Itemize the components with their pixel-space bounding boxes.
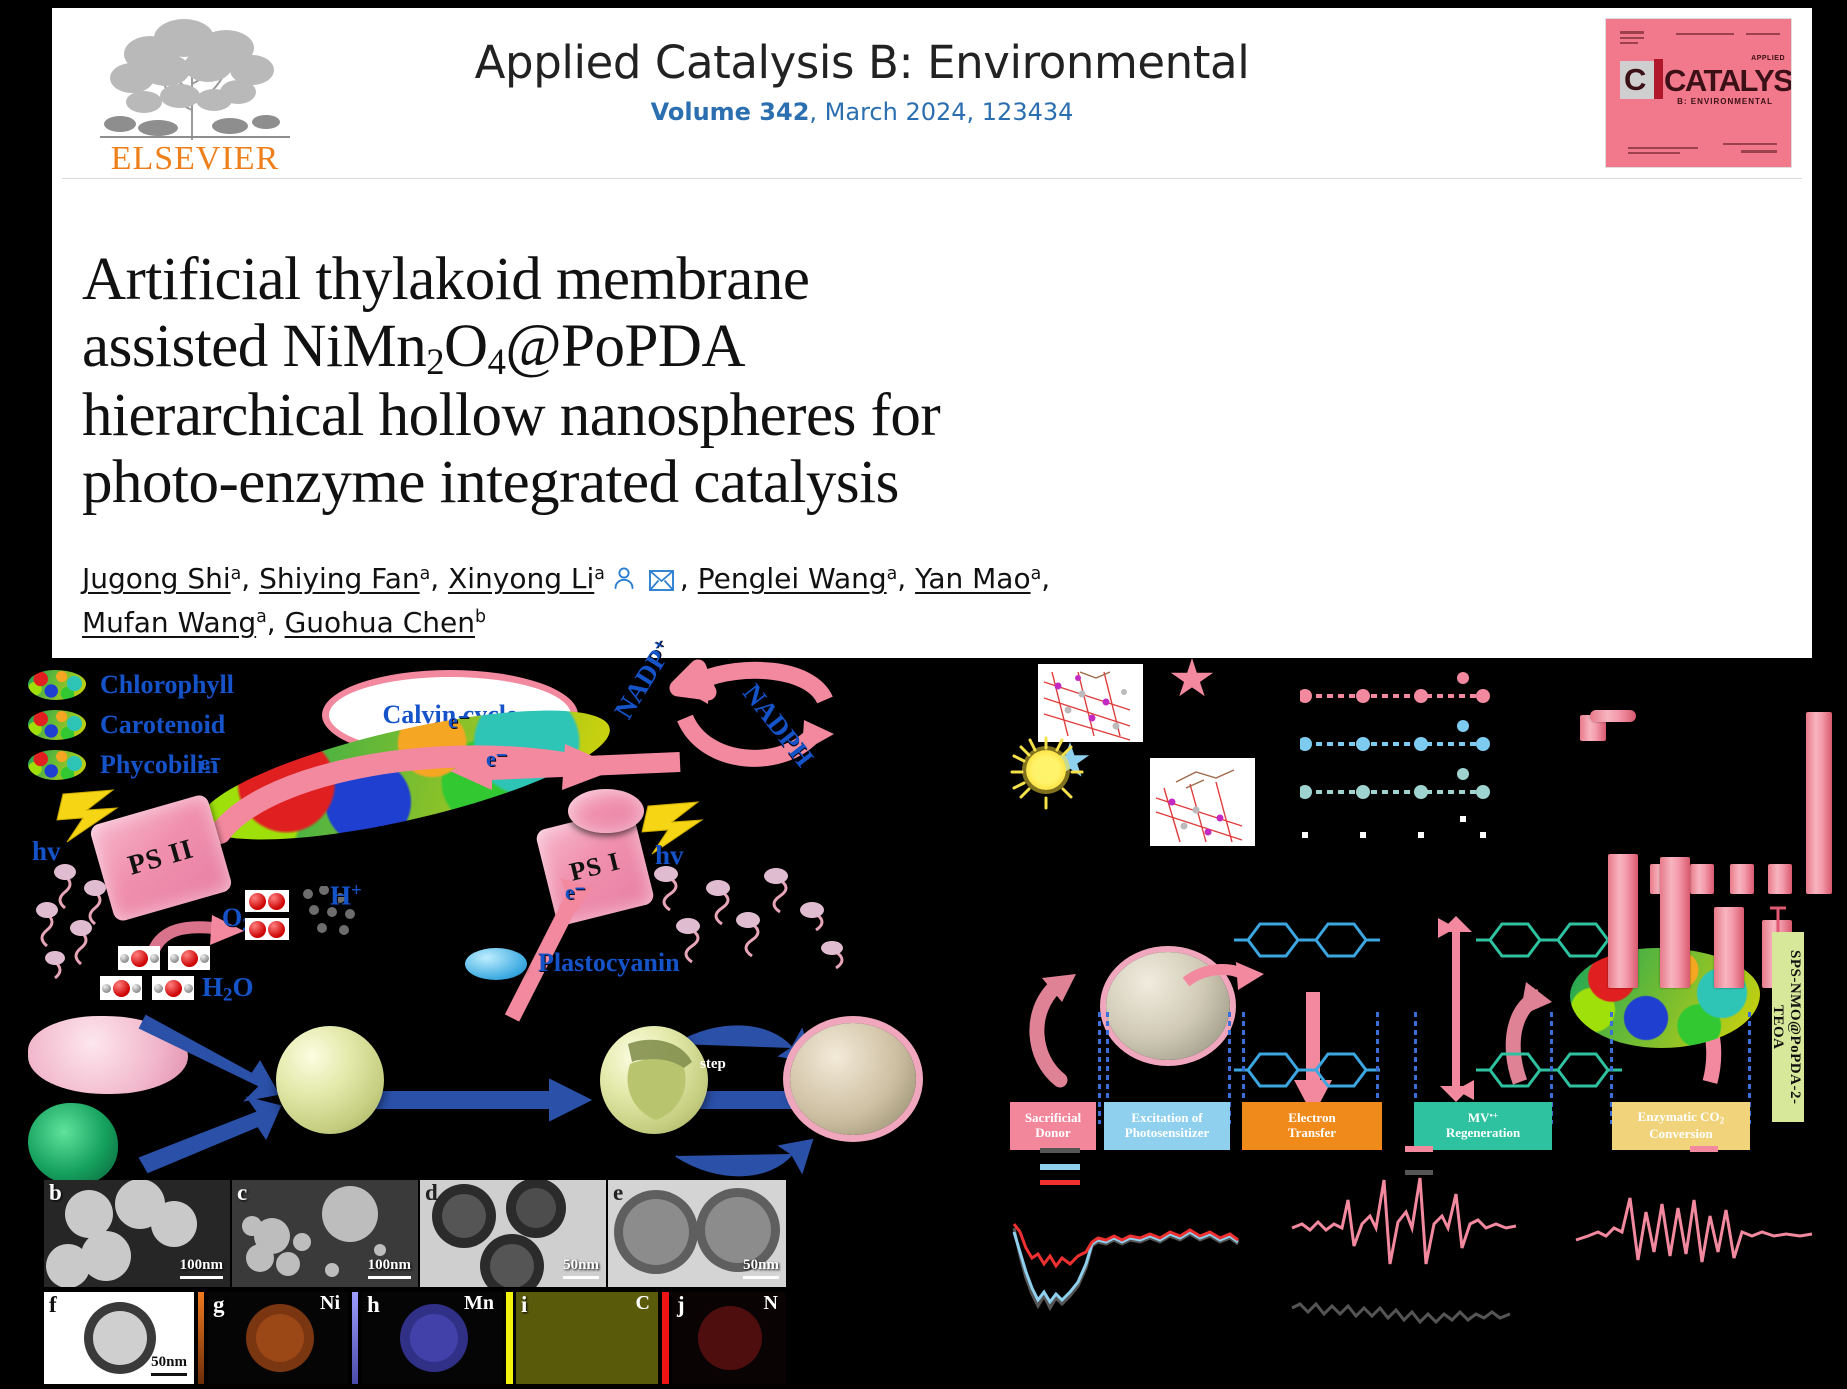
author-affiliation-6: a [256,604,267,631]
cover-red-bar [1654,59,1663,99]
bar-top-cap-marker [1590,710,1636,722]
journal-issue-line: Volume 342, March 2024, 123434 [362,98,1362,126]
author-sep-6: , [267,606,285,639]
panel-letter-h: h [367,1292,380,1318]
mv-redox-connector [1438,914,1474,1104]
solid-nanosphere [276,1026,384,1134]
hollow-cutaway-icon [608,1032,704,1128]
author-sep-5: , [1041,562,1050,595]
panel-scalebar-d: 50nm [563,1257,599,1279]
electron-label-2: e⁻ [448,708,469,734]
lipid-tails-left-icon [25,858,145,998]
author-sep-1: , [241,562,259,595]
psi-cap [568,789,644,833]
element-label-ni: Ni [320,1292,340,1315]
title-line-2b: O [444,313,488,380]
mechanism-and-charts: SacrificialDonor Excitation ofPhotosensi… [1010,658,1847,1389]
element-label-c: C [636,1292,650,1315]
water-molecule-2 [168,946,210,970]
element-map-panel-f[interactable]: f 50nm [44,1292,194,1384]
author-affiliation-3: a [594,561,605,588]
thylakoid-scheme: Chlorophyll Carotenoid Phycobilin Calvin… [0,658,1010,1389]
cover-subtitle-text: B: ENVIRONMENTAL [1677,97,1773,106]
o2-molecule-1 [245,890,289,912]
carotenoid-icon [28,710,86,740]
spectra-legend-2 [1405,1146,1433,1175]
hv-bolt-left-icon [55,788,135,848]
well-divider-1 [1098,1012,1101,1124]
spectra-legend-3 [1690,1146,1718,1152]
author-sep-2: , [430,562,448,595]
title-line-4: photo-enzyme integrated catalysis [82,449,899,516]
panel-letter-g: g [213,1292,225,1318]
panel-scalebar-f: 50nm [151,1354,187,1376]
sun-rays-icon [1010,736,1084,810]
panel-letter-i: i [521,1292,527,1318]
author-sep-4: , [897,562,915,595]
micrograph-panel-b[interactable]: b 100nm [44,1180,230,1287]
author-link-5[interactable]: Yan Mao [915,562,1031,595]
crystal-structure-inset-1[interactable] [1038,664,1143,742]
panel-letter-d: d [425,1180,438,1206]
sample-highlight-label: SPS-NMO@PoPDA-2-TEOA [1772,932,1804,1122]
electron-label-1: e⁻ [200,750,221,776]
author-affiliation-1: a [231,561,242,588]
journal-banner: ELSEVIER Applied Catalysis B: Environmen… [62,8,1802,179]
bar-top-3 [1690,864,1714,894]
crystal-structure-inset-2[interactable] [1150,758,1255,846]
title-line-1: Artificial thylakoid membrane [82,246,809,313]
bar-top-4 [1730,864,1754,894]
spectra-legend-1 [1040,1148,1080,1185]
title-sub-2: 2 [426,341,444,382]
element-map-panel-g[interactable]: g Ni [208,1292,348,1384]
colorbar-ni [198,1292,204,1384]
water-molecule-4 [152,976,194,1000]
elsevier-wordmark: ELSEVIER [70,142,320,176]
elsevier-logo[interactable]: ELSEVIER [70,14,320,176]
title-line-2a: assisted NiMn [82,313,426,380]
micrograph-panel-d[interactable]: d 50nm [420,1180,606,1287]
author-affiliation-5: a [1031,561,1042,588]
synthesis-step-label: step [700,1056,726,1073]
precursor-green-powder [28,1103,118,1185]
phycobilin-icon [28,750,86,780]
author-link-3[interactable]: Xinyong Li [448,562,594,595]
title-line-2c: @PoPDA [505,313,745,380]
electron-label-3: e⁻ [486,746,507,772]
element-map-panel-h[interactable]: h Mn [362,1292,502,1384]
bar-bottom-1 [1608,854,1638,988]
panel-scalebar-b: 100nm [180,1257,223,1279]
proton-label: H+ [330,880,362,912]
article-meta: Artificial thylakoid membrane assisted N… [52,179,1812,644]
author-link-2[interactable]: Shiying Fan [259,562,420,595]
micrograph-panel-e[interactable]: e 50nm [608,1180,786,1287]
title-sub-4: 4 [488,341,506,382]
bar-top-5 [1768,864,1792,894]
o2-molecule-2 [245,918,289,940]
cover-brand-text: CATALYSIS [1664,63,1792,99]
panel-letter-f: f [49,1292,57,1318]
electron-label-4: e⁻ [565,880,585,905]
cover-applied-text: APPLIED [1751,55,1785,62]
legend-label-chlorophyll: Chlorophyll [100,670,234,700]
bar-bottom-3 [1714,907,1744,988]
micrograph-panel-c[interactable]: c 100nm [232,1180,418,1287]
journal-cover-thumbnail[interactable]: C CATALYSIS APPLIED B: ENVIRONMENTAL [1605,18,1792,168]
journal-info: Applied Catalysis B: Environmental Volum… [362,38,1362,126]
plastocyanin-icon [465,948,527,980]
elsevier-tree-icon [80,14,310,142]
synthesis-arrows [120,1008,840,1208]
panel-scalebar-e: 50nm [743,1257,779,1279]
panel-letter-e: e [613,1180,623,1206]
article-header-card: ELSEVIER Applied Catalysis B: Environmen… [52,8,1812,658]
author-affiliation-7: b [475,604,486,631]
envelope-icon[interactable] [649,570,674,591]
element-map-panel-j[interactable]: j N [672,1292,786,1384]
journal-date-article: , March 2024, 123434 [809,98,1073,126]
element-label-n: N [764,1292,778,1315]
spectra-row [1010,1136,1847,1389]
element-map-panel-i[interactable]: i C [516,1292,658,1384]
author-link-7[interactable]: Guohua Chen [285,606,475,639]
author-link-4[interactable]: Penglei Wang [698,562,887,595]
coated-nanosphere [790,1023,916,1135]
colorbar-mn [352,1292,358,1384]
element-label-mn: Mn [464,1292,494,1315]
bar-top-6-highlight [1806,712,1832,894]
lipid-tails-right-icon [640,858,870,988]
water-label: H2O [202,972,253,1007]
author-affiliation-4: a [887,561,898,588]
author-link-6[interactable]: Mufan Wang [82,606,256,639]
chlorophyll-icon [28,670,86,700]
panel-scalebar-c: 100nm [368,1257,411,1279]
journal-title[interactable]: Applied Catalysis B: Environmental [362,38,1362,88]
journal-volume: Volume 342 [651,98,810,126]
panel-letter-b: b [49,1180,62,1206]
cover-c-letter: C [1620,61,1658,99]
panel-letter-c: c [237,1180,247,1206]
star-marker-pink [1170,658,1214,700]
bar-bottom-2 [1660,857,1690,988]
graphical-abstract: Chlorophyll Carotenoid Phycobilin Calvin… [0,658,1847,1389]
article-page: ELSEVIER Applied Catalysis B: Environmen… [0,0,1847,1389]
title-line-3: hierarchical hollow nanospheres for [82,382,940,449]
colorbar-n [662,1292,669,1384]
colorbar-c [506,1292,513,1384]
dashed-level-chart [1300,666,1500,846]
page-title: Artificial thylakoid membrane assisted N… [82,246,1782,517]
author-link-1[interactable]: Jugong Shi [82,562,231,595]
author-affiliation-2: a [420,561,431,588]
author-list: Jugong Shia, Shiying Fana, Xinyong Lia, … [82,557,1782,644]
panel-letter-j: j [677,1292,685,1318]
author-comma-3: , [680,562,689,595]
person-icon[interactable] [611,565,637,591]
